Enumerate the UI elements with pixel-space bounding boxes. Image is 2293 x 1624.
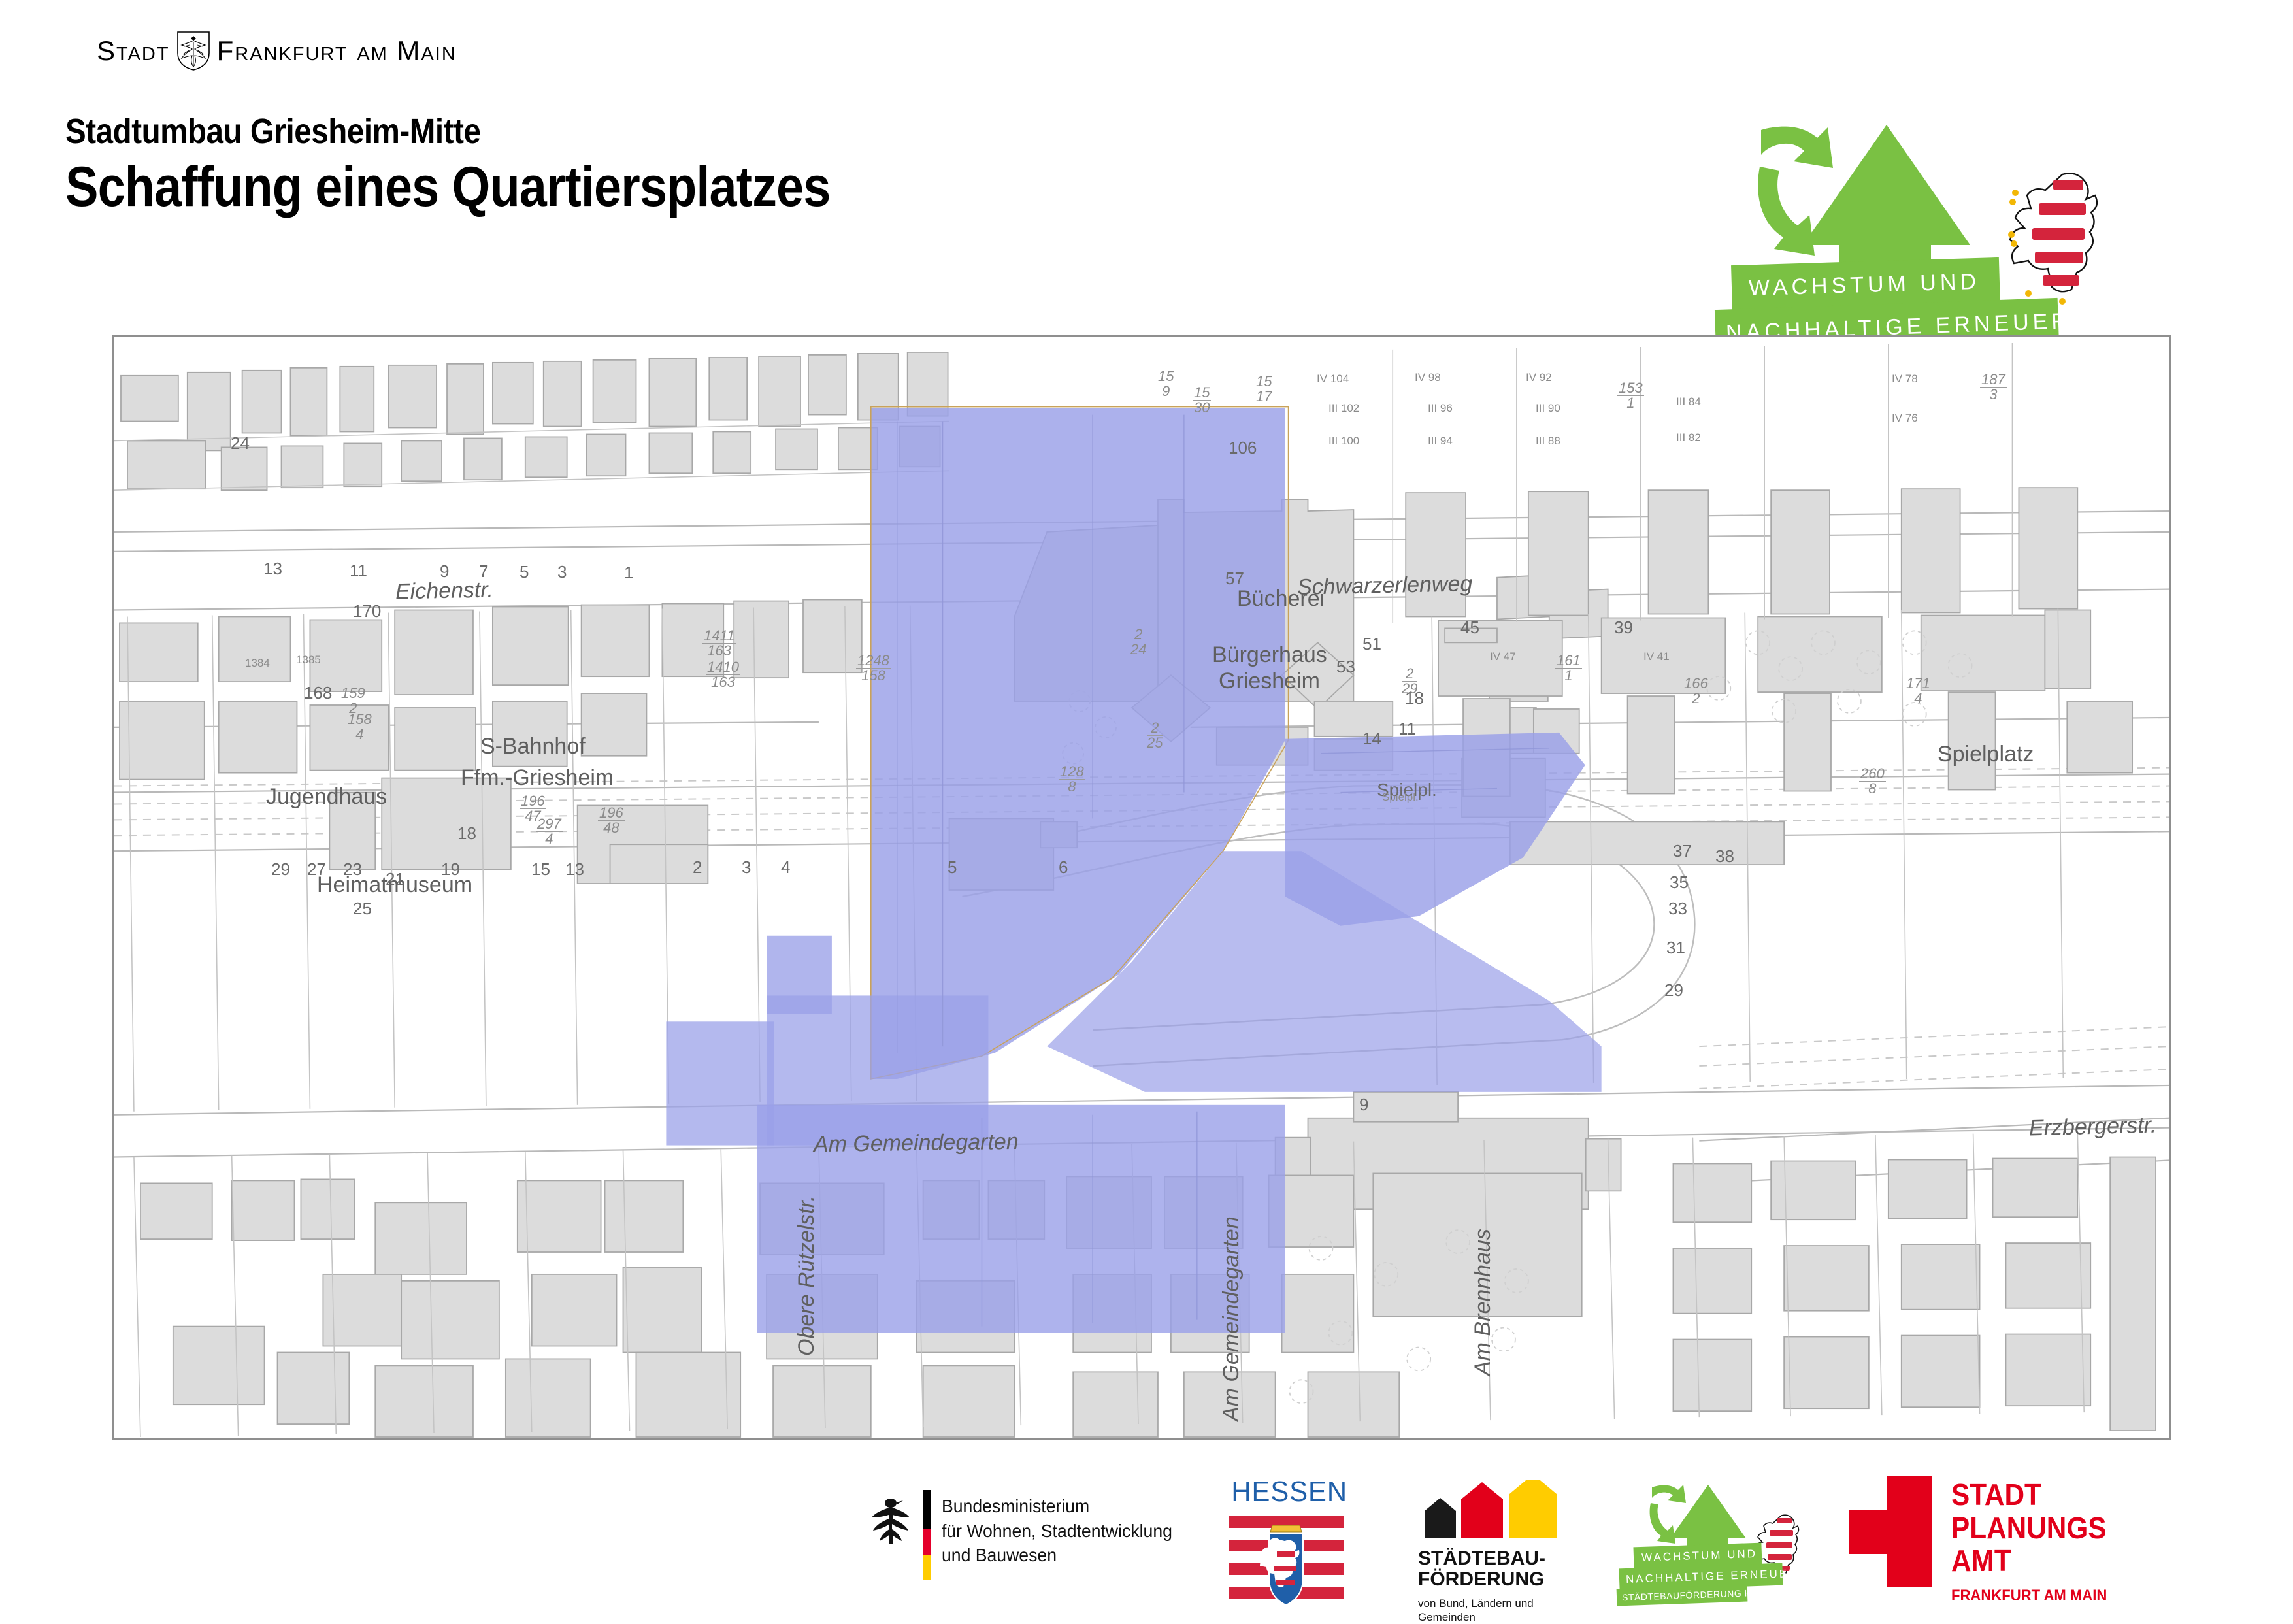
spa-line3: AMT: [1951, 1544, 2107, 1578]
city-logo-word-frankfurt: Frankfurt am Main: [217, 35, 457, 67]
frankfurt-red-block-mark-icon: [1849, 1476, 1932, 1587]
bmwsb-text-block: Bundesministerium für Wohnen, Stadtentwi…: [942, 1494, 1172, 1568]
page-subtitle: Stadtumbau Griesheim-Mitte: [65, 111, 1158, 152]
hessen-flag-shield-icon: [1229, 1514, 1344, 1612]
sbf-sub-block: von Bund, Ländern und Gemeinden: [1418, 1597, 1581, 1624]
bmwsb-line2: für Wohnen, Stadtentwicklung: [942, 1519, 1172, 1544]
hessen-lion-icon: [2000, 165, 2104, 309]
logo-hessen: HESSEN: [1229, 1476, 1344, 1615]
sbf-title-line1: STÄDTEBAU-: [1418, 1548, 1581, 1569]
bmwsb-line1: Bundesministerium: [942, 1494, 1172, 1519]
cadastral-map[interactable]: Eichenstr. Schwarzerlenweg Am Gemeindega…: [112, 335, 2171, 1440]
bundesadler-icon: [869, 1493, 912, 1545]
sbf-title-block: STÄDTEBAU- FÖRDERUNG: [1418, 1548, 1581, 1591]
three-houses-icon: [1418, 1480, 1568, 1538]
hessen-wordmark: HESSEN: [1231, 1476, 1340, 1508]
sbf-sub-line2: Gemeinden: [1418, 1610, 1581, 1624]
city-logo: Stadt Frankfurt am Main: [97, 31, 515, 71]
frankfurt-eagle-crest-icon: [176, 31, 210, 71]
logo-staedtebaufoerderung: STÄDTEBAU- FÖRDERUNG von Bund, Ländern u…: [1418, 1480, 1581, 1624]
map-drawing: [114, 337, 2169, 1438]
spa-line2: PLANUNGS: [1951, 1512, 2107, 1545]
logo-stadtplanungsamt: STADT PLANUNGS AMT FRANKFURT AM MAIN: [1849, 1476, 2120, 1605]
bmwsb-line3: und Bauwesen: [942, 1543, 1172, 1568]
city-logo-word-stadt: Stadt: [97, 35, 170, 67]
sbf-sub-line1: von Bund, Ländern und: [1418, 1597, 1581, 1610]
logo-bundesministerium: Bundesministerium für Wohnen, Stadtentwi…: [869, 1485, 1184, 1580]
spa-text-block: STADT PLANUNGS AMT FRANKFURT AM MAIN: [1951, 1478, 2120, 1605]
spa-subline: FRANKFURT AM MAIN: [1951, 1587, 2107, 1605]
footer-logo-bar: Bundesministerium für Wohnen, Stadtentwi…: [0, 1470, 2293, 1621]
german-flag-bar-icon: [923, 1490, 931, 1580]
title-block: Stadtumbau Griesheim-Mitte Schaffung ein…: [65, 111, 1307, 218]
sbf-title-line2: FÖRDERUNG: [1418, 1569, 1581, 1590]
spa-line1: STADT: [1951, 1478, 2107, 1512]
page-title: Schaffung eines Quartiersplatzes: [65, 156, 1158, 218]
logo-wachstum-nachhaltige-erneuerung: WACHSTUM UND NACHHALTIGE ERNEUERUNG STÄD…: [1608, 1480, 1823, 1610]
wachstum-line3: STÄDTEBAUFÖRDERUNG HESSEN: [1617, 1585, 1748, 1606]
